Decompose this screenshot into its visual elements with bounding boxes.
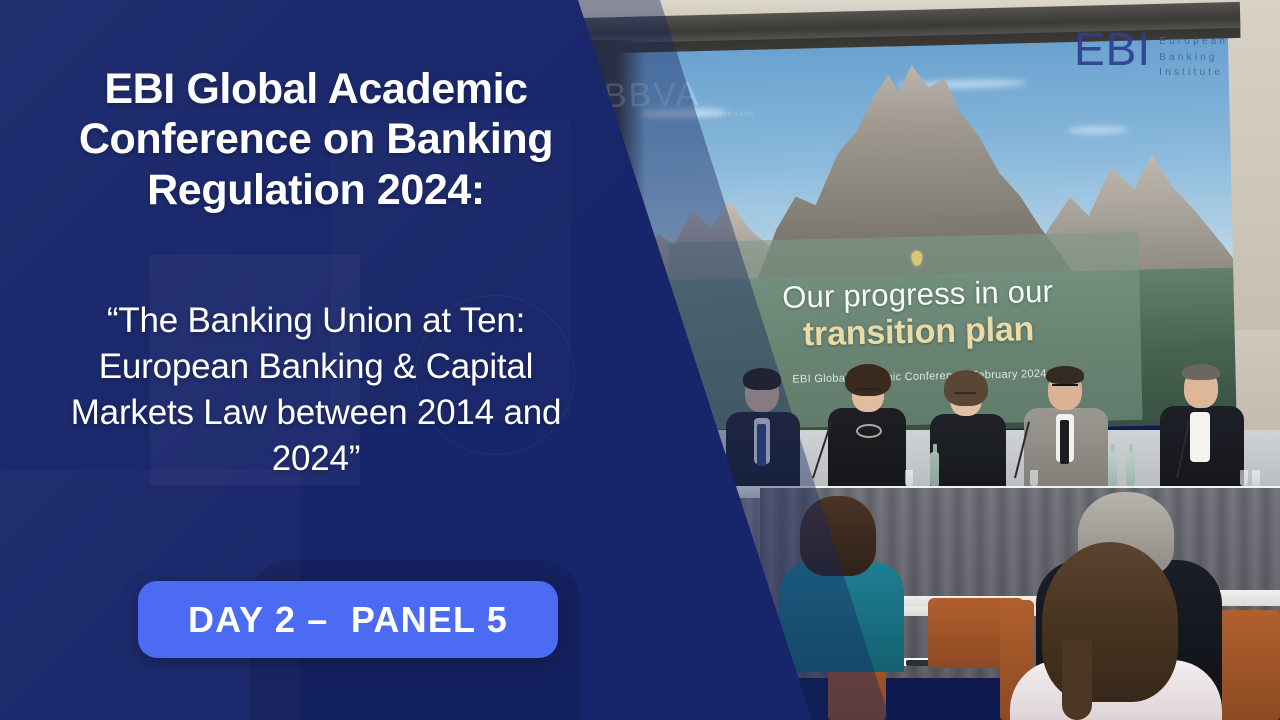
title-card-stage: Our progress in our transition plan EBI … (0, 0, 1280, 720)
ebi-word-european: European (1159, 34, 1228, 50)
drinking-glass (1240, 470, 1248, 486)
water-bottle (1108, 452, 1117, 486)
cloud-shape (1068, 126, 1128, 134)
ebi-logo-mark: EBI (1074, 28, 1151, 70)
page-subtitle: “The Banking Union at Ten: European Bank… (36, 298, 596, 481)
water-bottle (930, 452, 939, 486)
page-title: EBI Global Academic Conference on Bankin… (36, 64, 596, 215)
ebi-word-institute: Institute (1159, 65, 1228, 81)
session-badge-label: DAY 2 – PANEL 5 (188, 599, 508, 641)
water-bottle (1126, 452, 1135, 486)
session-badge: DAY 2 – PANEL 5 (138, 581, 558, 658)
ebi-logo: EBI European Banking Institute (1074, 28, 1228, 81)
title-content: EBI Global Academic Conference on Bankin… (0, 0, 620, 720)
drinking-glass (1030, 470, 1038, 486)
ebi-logo-wordmark: European Banking Institute (1159, 28, 1228, 81)
drinking-glass (1252, 470, 1260, 486)
drinking-glass (905, 470, 913, 486)
ebi-word-banking: Banking (1159, 50, 1228, 66)
